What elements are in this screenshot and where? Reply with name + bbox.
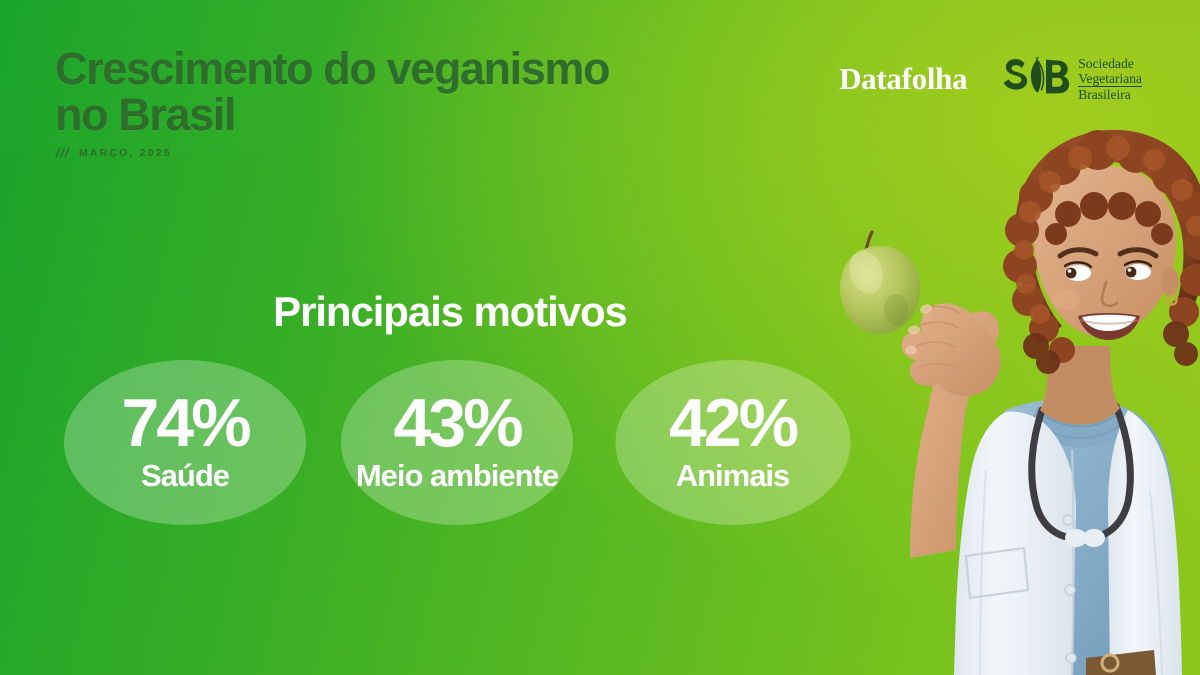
dateline: /// MARÇO, 2025 [56,145,172,160]
stat-content: 74% Saúde [60,352,310,532]
svb-logo-text: Sociedade Vegetariana Brasileira [1078,56,1142,102]
svb-text-line-1: Sociedade [1078,56,1142,71]
svb-logo: Sociedade Vegetariana Brasileira [1001,54,1142,104]
page-title-line-1: Crescimento do veganismo [55,43,609,94]
stat-card-saude: 74% Saúde [60,352,310,532]
stat-card-meio-ambiente: 43% Meio ambiente [322,352,592,532]
svb-text-line-2: Vegetariana [1078,72,1142,87]
stats-group: 74% Saúde 43% Meio ambiente 42% Animais [60,352,860,532]
stat-value: 43% [393,391,520,456]
section-title: Principais motivos [0,288,900,336]
datafolha-logo: Datafolha [839,61,967,97]
stat-label: Meio ambiente [356,459,558,493]
logo-group: Datafolha Sociedade Vegetariana Brasilei… [839,54,1142,104]
stat-card-animais: 42% Animais [605,352,860,532]
svb-text-line-3: Brasileira [1078,87,1142,102]
slashes-icon: /// [54,145,71,160]
date-label: MARÇO, 2025 [79,147,172,159]
header: Crescimento do veganismo no Brasil /// M… [0,0,1200,180]
stat-content: 43% Meio ambiente [322,352,592,532]
stat-value: 42% [669,391,796,456]
infographic-poster: Crescimento do veganismo no Brasil /// M… [0,0,1200,675]
svb-leaf-monogram-icon [1001,54,1071,104]
woman-doctor-holding-apple-photo [810,110,1200,675]
page-title: Crescimento do veganismo no Brasil [55,46,695,138]
stat-value: 74% [121,391,248,456]
stat-content: 42% Animais [605,352,860,532]
stat-label: Saúde [141,459,229,493]
page-title-line-2: no Brasil [55,92,695,138]
stat-label: Animais [676,459,790,493]
